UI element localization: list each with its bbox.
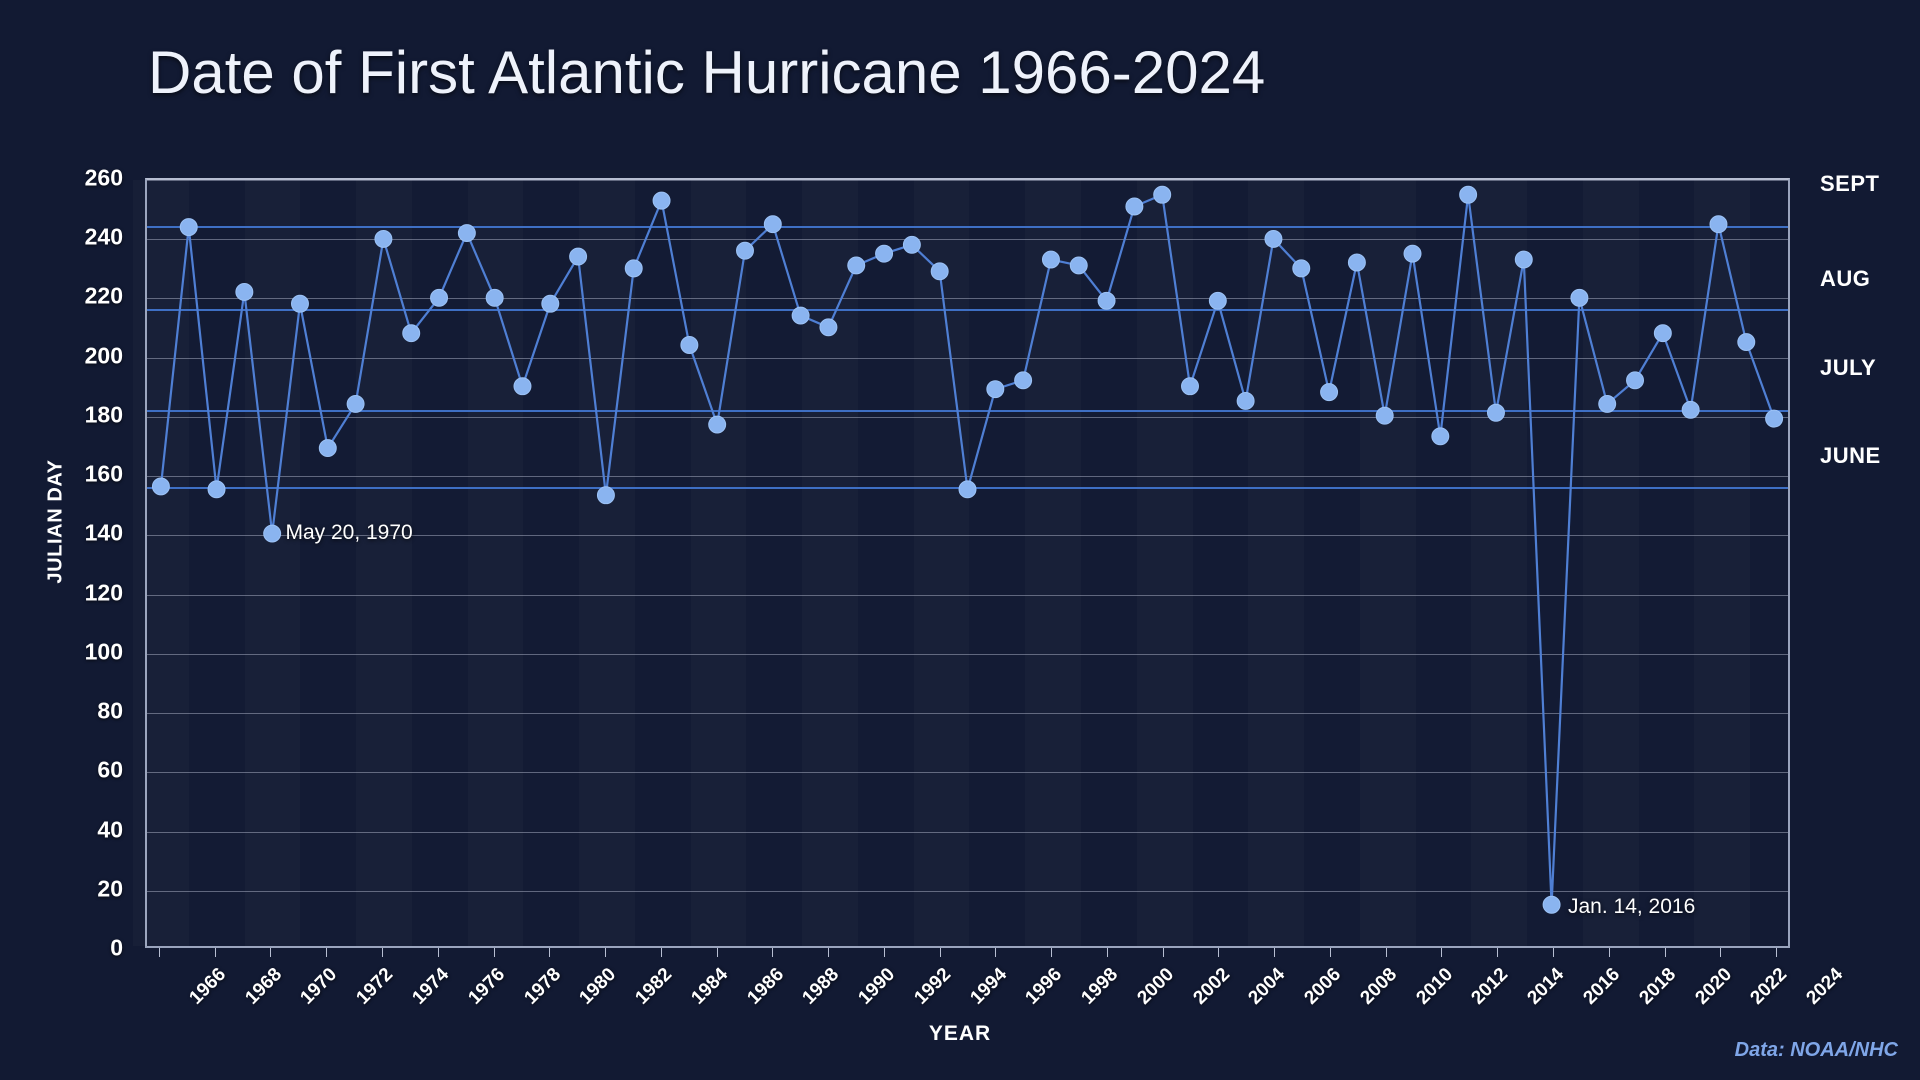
x-tick-label: 1982	[631, 964, 676, 1009]
data-point[interactable]	[1766, 410, 1783, 427]
series-svg	[147, 180, 1788, 946]
x-tick-label: 2024	[1802, 964, 1847, 1009]
x-tick-label: 2016	[1579, 964, 1624, 1009]
data-point[interactable]	[1098, 292, 1115, 309]
x-tick-mark	[1553, 948, 1554, 957]
data-point[interactable]	[431, 289, 448, 306]
x-tick-label: 2018	[1635, 964, 1680, 1009]
x-tick-mark	[661, 948, 662, 957]
data-point[interactable]	[959, 481, 976, 498]
x-tick-mark	[1720, 948, 1721, 957]
data-point[interactable]	[1321, 384, 1338, 401]
x-tick-mark	[382, 948, 383, 957]
x-tick-mark	[1218, 948, 1219, 957]
data-point[interactable]	[1654, 325, 1671, 342]
x-tick-mark	[605, 948, 606, 957]
data-point[interactable]	[764, 216, 781, 233]
data-point[interactable]	[319, 440, 336, 457]
x-tick-label: 1988	[799, 964, 844, 1009]
x-tick-mark	[215, 948, 216, 957]
data-point[interactable]	[1237, 393, 1254, 410]
data-point[interactable]	[681, 337, 698, 354]
data-point[interactable]	[458, 225, 475, 242]
y-tick-label: 220	[13, 283, 123, 310]
data-point[interactable]	[597, 487, 614, 504]
data-point[interactable]	[291, 295, 308, 312]
data-point[interactable]	[1515, 251, 1532, 268]
x-axis-label: YEAR	[0, 1022, 1920, 1046]
x-tick-label: 2002	[1189, 964, 1234, 1009]
y-tick-label: 140	[13, 520, 123, 547]
data-point[interactable]	[625, 260, 642, 277]
x-tick-label: 2010	[1412, 964, 1457, 1009]
y-tick-label: 120	[13, 579, 123, 606]
x-tick-mark	[1386, 948, 1387, 957]
data-point[interactable]	[1348, 254, 1365, 271]
data-point[interactable]	[987, 381, 1004, 398]
x-tick-mark	[772, 948, 773, 957]
x-tick-mark	[1609, 948, 1610, 957]
x-tick-label: 2014	[1524, 964, 1569, 1009]
x-tick-label: 1970	[297, 964, 342, 1009]
x-tick-label: 1980	[576, 964, 621, 1009]
data-point[interactable]	[486, 289, 503, 306]
y-tick-label: 0	[13, 935, 123, 962]
x-tick-mark	[1274, 948, 1275, 957]
data-point[interactable]	[236, 283, 253, 300]
x-tick-label: 1974	[408, 964, 453, 1009]
x-tick-label: 1968	[241, 964, 286, 1009]
x-tick-mark	[549, 948, 550, 957]
data-point[interactable]	[1487, 404, 1504, 421]
data-point[interactable]	[570, 248, 587, 265]
data-point[interactable]	[1404, 245, 1421, 262]
x-tick-label: 2006	[1301, 964, 1346, 1009]
y-tick-label: 160	[13, 461, 123, 488]
data-point[interactable]	[737, 242, 754, 259]
y-tick-label: 60	[13, 757, 123, 784]
y-tick-label: 40	[13, 816, 123, 843]
x-tick-mark	[494, 948, 495, 957]
plot-area	[145, 178, 1790, 948]
data-point[interactable]	[1182, 378, 1199, 395]
data-point[interactable]	[1070, 257, 1087, 274]
data-point[interactable]	[1154, 186, 1171, 203]
data-point[interactable]	[1015, 372, 1032, 389]
x-tick-mark	[270, 948, 271, 957]
data-point[interactable]	[403, 325, 420, 342]
data-point[interactable]	[1571, 289, 1588, 306]
data-point[interactable]	[931, 263, 948, 280]
month-label-july: JULY	[1820, 355, 1876, 381]
x-tick-mark	[1441, 948, 1442, 957]
data-point[interactable]	[1126, 198, 1143, 215]
y-tick-label: 240	[13, 224, 123, 251]
x-tick-mark	[940, 948, 941, 957]
x-tick-mark	[1107, 948, 1108, 957]
x-tick-label: 1992	[910, 964, 955, 1009]
data-point[interactable]	[876, 245, 893, 262]
x-tick-label: 1994	[966, 964, 1011, 1009]
x-tick-label: 1978	[520, 964, 565, 1009]
data-point[interactable]	[1627, 372, 1644, 389]
y-tick-label: 80	[13, 698, 123, 725]
x-tick-mark	[1051, 948, 1052, 957]
x-tick-mark	[159, 948, 160, 957]
data-source-credit: Data: NOAA/NHC	[1735, 1039, 1898, 1062]
data-point[interactable]	[1042, 251, 1059, 268]
x-tick-mark	[717, 948, 718, 957]
data-point[interactable]	[1682, 401, 1699, 418]
x-tick-mark	[884, 948, 885, 957]
data-point[interactable]	[1265, 230, 1282, 247]
data-point[interactable]	[792, 307, 809, 324]
x-tick-mark	[1665, 948, 1666, 957]
x-tick-label: 2000	[1133, 964, 1178, 1009]
data-point[interactable]	[375, 230, 392, 247]
chart-title: Date of First Atlantic Hurricane 1966-20…	[148, 38, 1265, 107]
x-tick-label: 2008	[1356, 964, 1401, 1009]
x-tick-label: 2022	[1747, 964, 1792, 1009]
chart-canvas: Date of First Atlantic Hurricane 1966-20…	[0, 0, 1920, 1080]
y-tick-label: 100	[13, 638, 123, 665]
month-label-aug: AUG	[1820, 266, 1870, 292]
series-line	[161, 195, 1774, 905]
data-point[interactable]	[264, 525, 281, 542]
data-point[interactable]	[1543, 896, 1560, 913]
x-tick-label: 1972	[353, 964, 398, 1009]
y-tick-label: 200	[13, 342, 123, 369]
x-tick-label: 1966	[185, 964, 230, 1009]
x-tick-label: 1996	[1022, 964, 1067, 1009]
y-tick-label: 20	[13, 875, 123, 902]
x-tick-label: 1984	[687, 964, 732, 1009]
data-point[interactable]	[1376, 407, 1393, 424]
data-point[interactable]	[152, 478, 169, 495]
x-tick-mark	[438, 948, 439, 957]
x-tick-mark	[1330, 948, 1331, 957]
x-tick-mark	[828, 948, 829, 957]
month-label-sept: SEPT	[1820, 171, 1879, 197]
data-point[interactable]	[1293, 260, 1310, 277]
x-tick-label: 2012	[1468, 964, 1513, 1009]
x-tick-label: 1986	[743, 964, 788, 1009]
data-point[interactable]	[820, 319, 837, 336]
data-point[interactable]	[1599, 395, 1616, 412]
data-point[interactable]	[347, 395, 364, 412]
data-point[interactable]	[1710, 216, 1727, 233]
x-tick-mark	[1163, 948, 1164, 957]
data-point[interactable]	[542, 295, 559, 312]
x-tick-mark	[326, 948, 327, 957]
data-point[interactable]	[208, 481, 225, 498]
data-point[interactable]	[903, 236, 920, 253]
x-tick-label: 1976	[464, 964, 509, 1009]
data-point[interactable]	[1460, 186, 1477, 203]
data-point[interactable]	[180, 219, 197, 236]
data-point[interactable]	[709, 416, 726, 433]
y-tick-label: 260	[13, 165, 123, 192]
data-point[interactable]	[1432, 428, 1449, 445]
annotation-label: May 20, 1970	[285, 521, 412, 545]
x-tick-label: 2020	[1691, 964, 1736, 1009]
data-point[interactable]	[1738, 334, 1755, 351]
y-tick-label: 180	[13, 401, 123, 428]
x-tick-label: 1990	[854, 964, 899, 1009]
data-point[interactable]	[514, 378, 531, 395]
x-tick-mark	[1776, 948, 1777, 957]
x-tick-label: 1998	[1078, 964, 1123, 1009]
data-point[interactable]	[848, 257, 865, 274]
x-tick-mark	[1497, 948, 1498, 957]
month-label-june: JUNE	[1820, 443, 1881, 469]
annotation-label: Jan. 14, 2016	[1568, 895, 1695, 919]
data-point[interactable]	[653, 192, 670, 209]
x-tick-mark	[995, 948, 996, 957]
data-point[interactable]	[1209, 292, 1226, 309]
x-tick-label: 2004	[1245, 964, 1290, 1009]
